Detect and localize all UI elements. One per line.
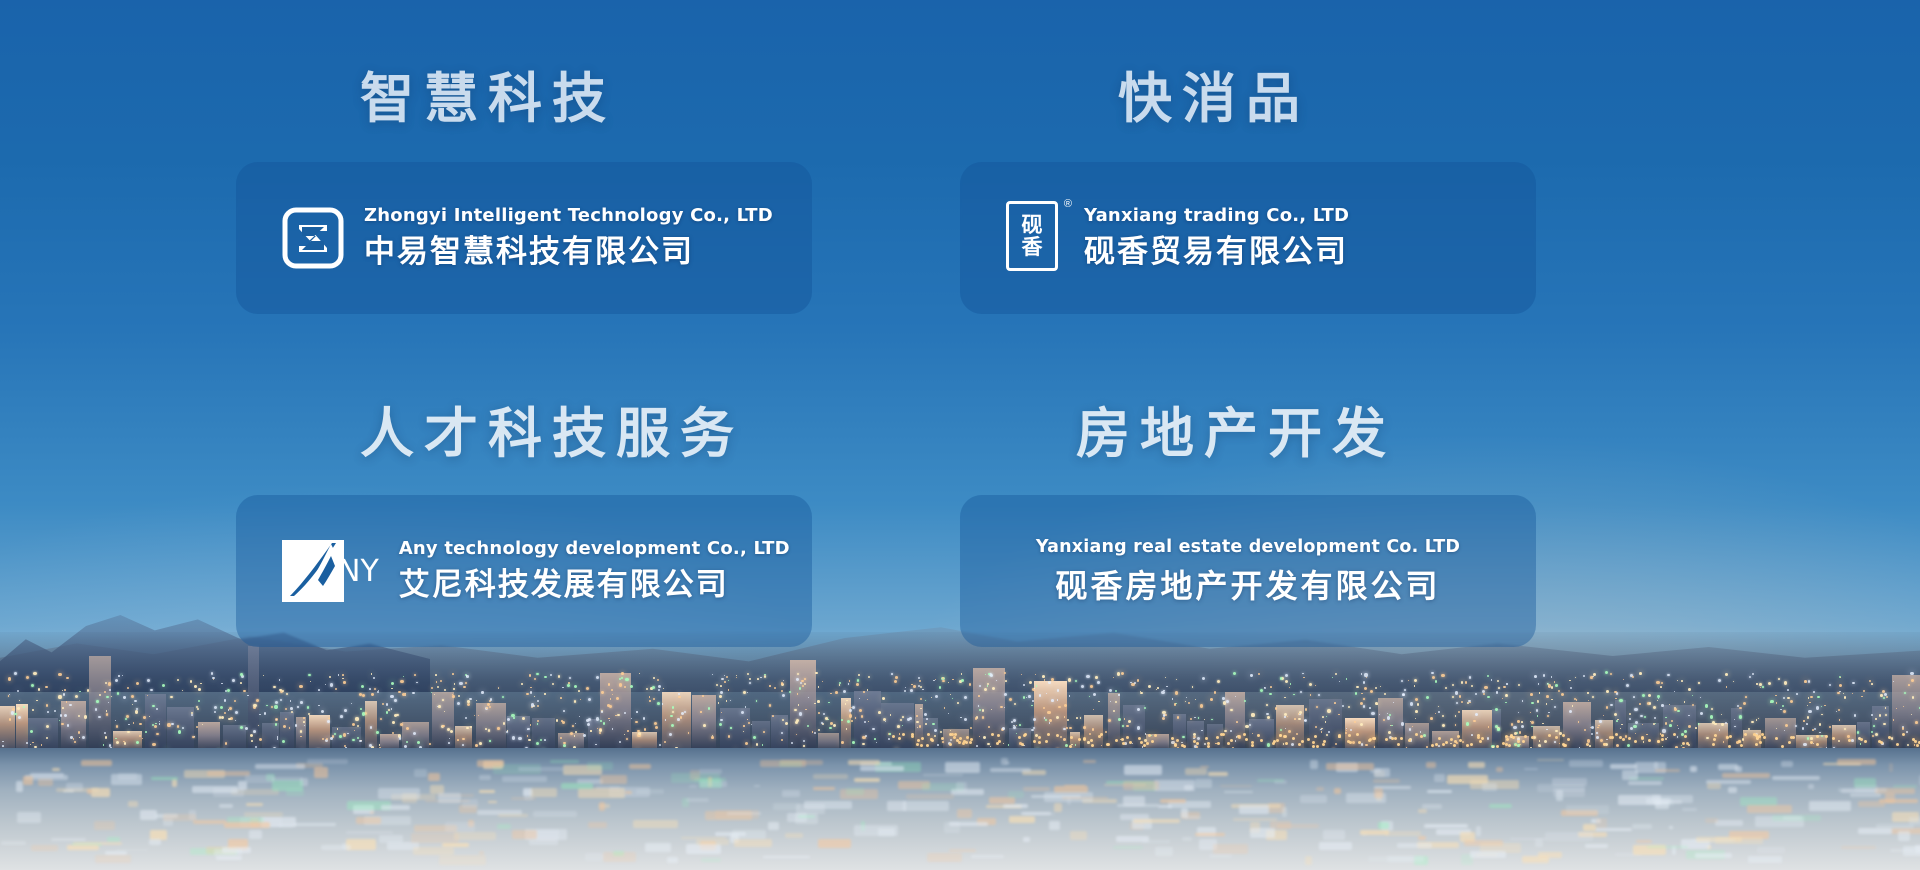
company-card-any[interactable]: NY Any technology development Co., LTD 艾… bbox=[236, 495, 812, 647]
segment-real-estate: 房地产开发 Yanxiang real estate development C… bbox=[960, 407, 1684, 742]
seal-char-bottom: 香 bbox=[1022, 237, 1043, 258]
segment-smart-technology: 智慧科技 Zhongyi Intelligent Technology Co.,… bbox=[236, 72, 960, 407]
any-mountain-icon: NY bbox=[282, 540, 379, 602]
zhongyi-z-mark-icon bbox=[282, 207, 344, 269]
company-name-en: Zhongyi Intelligent Technology Co., LTD bbox=[364, 205, 773, 228]
company-name-cn: 艾尼科技发展有限公司 bbox=[399, 568, 790, 604]
any-logo-text: NY bbox=[338, 554, 379, 589]
seal-char-top: 砚 bbox=[1022, 215, 1043, 236]
segment-fmcg: 快消品 砚 香 ® Yanxiang trading Co., LTD 砚香贸易… bbox=[960, 72, 1684, 407]
company-name-en: Yanxiang trading Co., LTD bbox=[1084, 205, 1349, 228]
registered-mark-icon: ® bbox=[1064, 199, 1072, 210]
segment-title-fmcg: 快消品 bbox=[1118, 72, 1310, 126]
yanxiang-seal-icon: 砚 香 ® bbox=[1006, 201, 1064, 275]
company-name-cn: 砚香房地产开发有限公司 bbox=[1055, 568, 1440, 605]
segment-title-real-estate: 房地产开发 bbox=[1076, 407, 1396, 461]
company-name-cn: 砚香贸易有限公司 bbox=[1084, 235, 1349, 271]
segment-talent-services: 人才科技服务 NY Any technology development Co.… bbox=[236, 407, 960, 742]
company-name-en: Any technology development Co., LTD bbox=[399, 538, 790, 561]
company-card-zhongyi[interactable]: Zhongyi Intelligent Technology Co., LTD … bbox=[236, 162, 812, 314]
company-names: Any technology development Co., LTD 艾尼科技… bbox=[399, 538, 790, 603]
segment-title-talent-services: 人才科技服务 bbox=[360, 407, 744, 461]
company-names: Yanxiang trading Co., LTD 砚香贸易有限公司 bbox=[1084, 205, 1349, 270]
company-names: Yanxiang real estate development Co. LTD… bbox=[1036, 537, 1460, 605]
segment-title-smart-technology: 智慧科技 bbox=[360, 72, 616, 126]
segments-grid: 智慧科技 Zhongyi Intelligent Technology Co.,… bbox=[0, 0, 1920, 870]
company-card-yanxiang-real-estate[interactable]: Yanxiang real estate development Co. LTD… bbox=[960, 495, 1536, 647]
company-names: Zhongyi Intelligent Technology Co., LTD … bbox=[364, 205, 773, 270]
company-name-cn: 中易智慧科技有限公司 bbox=[364, 235, 773, 271]
company-card-yanxiang-trading[interactable]: 砚 香 ® Yanxiang trading Co., LTD 砚香贸易有限公司 bbox=[960, 162, 1536, 314]
company-name-en: Yanxiang real estate development Co. LTD bbox=[1036, 537, 1460, 559]
